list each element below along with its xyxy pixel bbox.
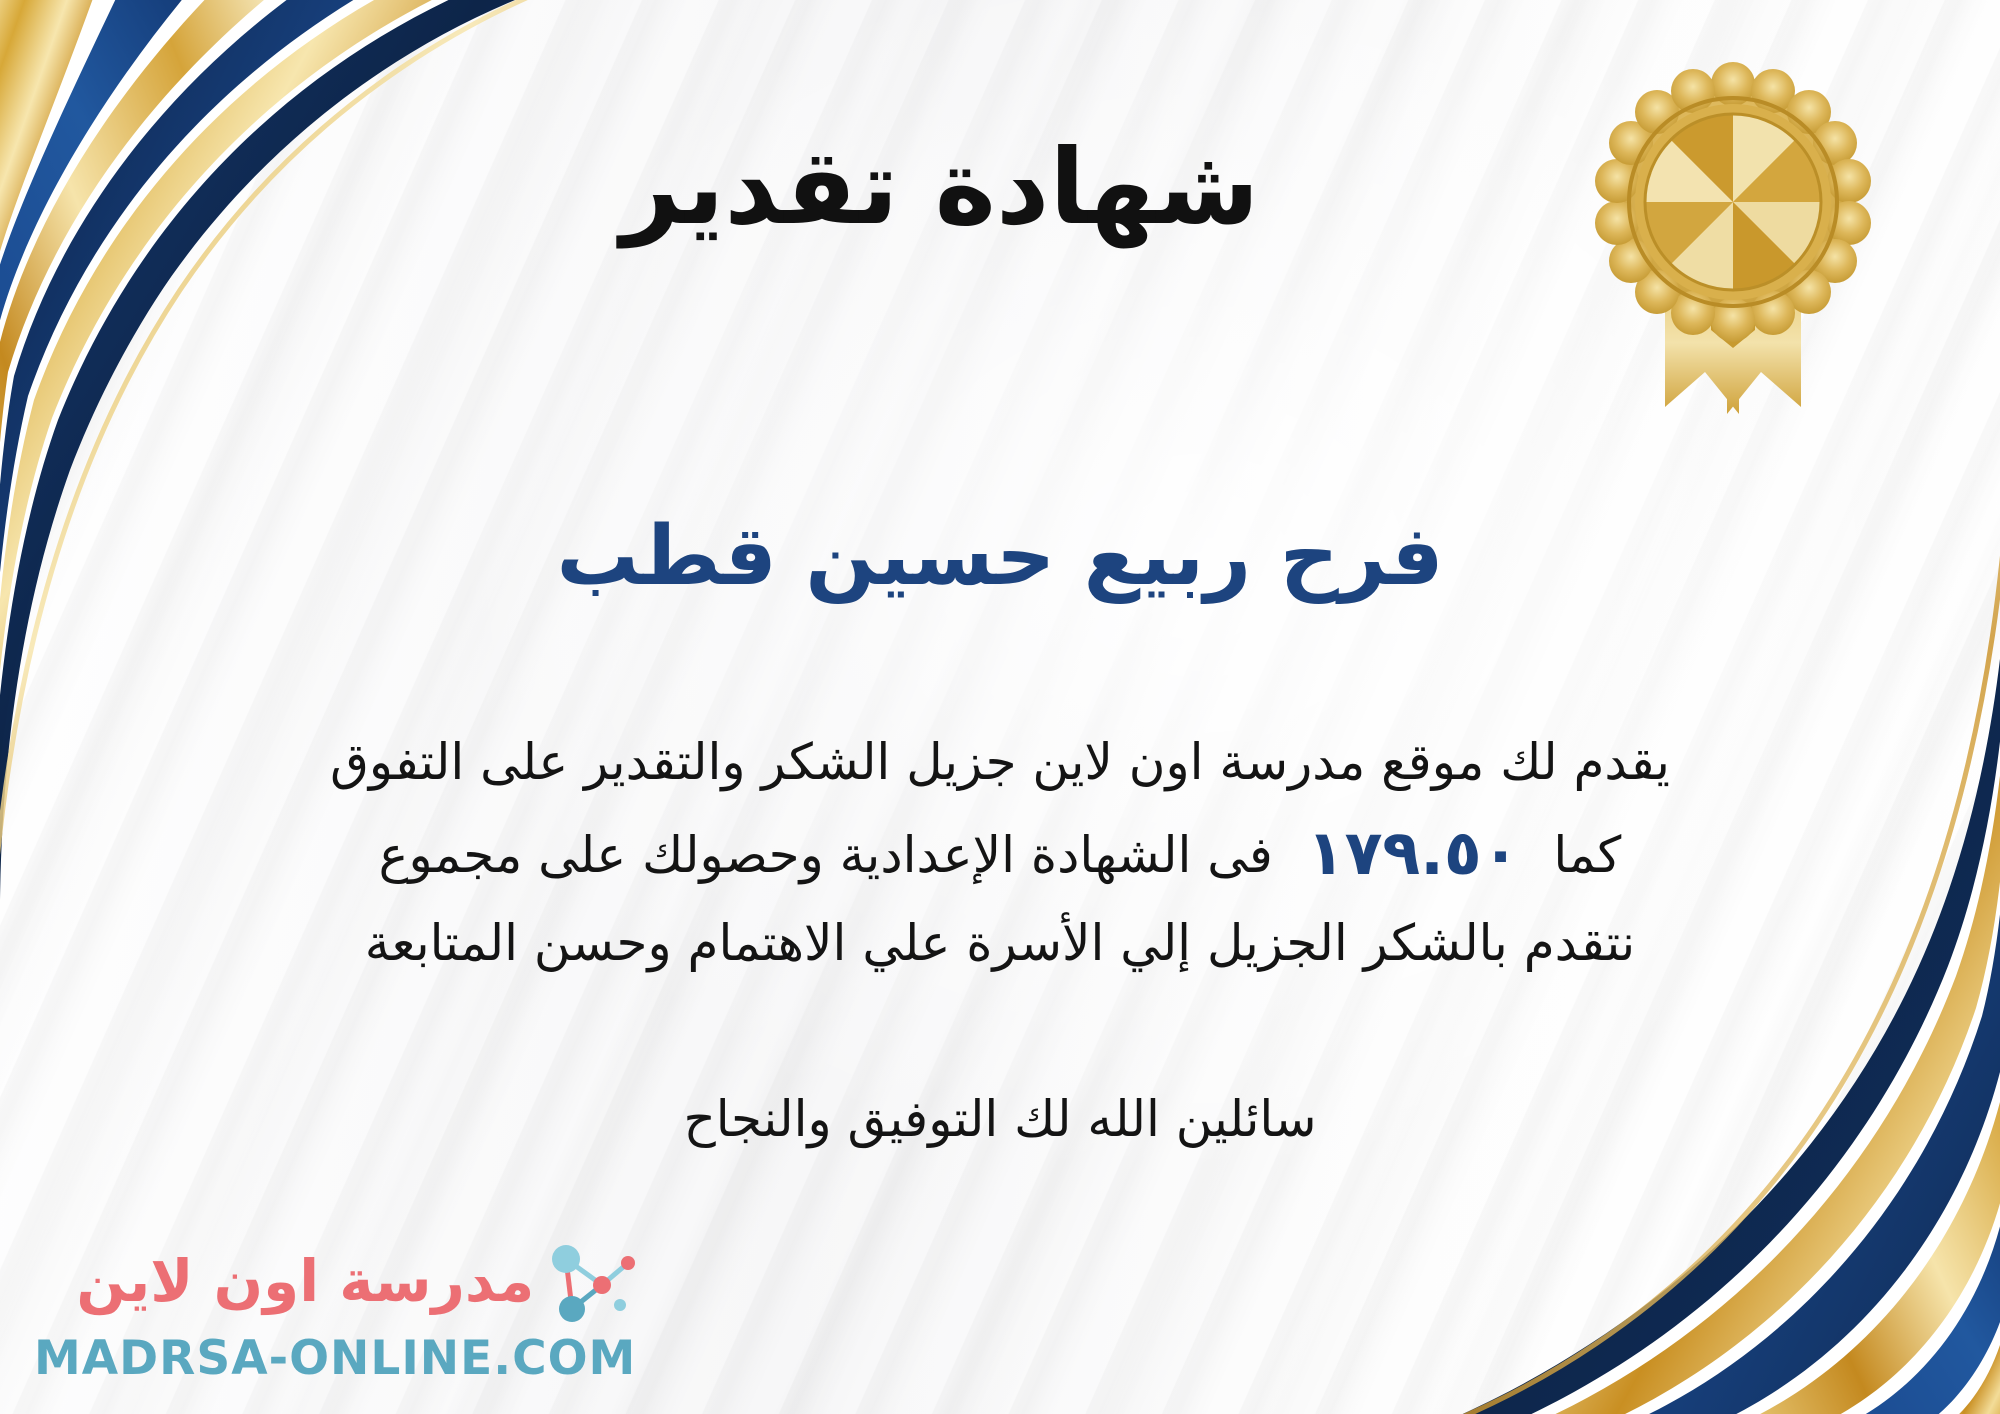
certificate-body: يقدم لك موقع مدرسة اون لاين جزيل الشكر و… (120, 722, 1880, 984)
page-title: شهادة تقدير (0, 130, 2000, 244)
body-line-1: يقدم لك موقع مدرسة اون لاين جزيل الشكر و… (120, 722, 1880, 803)
closing-wish: سائلين الله لك التوفيق والنجاح (0, 1090, 2000, 1148)
certificate-page: شهادة تقدير فرح ربيع حسين قطب يقدم لك مو… (0, 0, 2000, 1414)
body-line-3: نتقدم بالشكر الجزيل إلي الأسرة علي الاهت… (120, 903, 1880, 984)
body-line-2-prefix: كما (1553, 826, 1621, 884)
brand-arabic-name: مدرسة اون لاين (76, 1251, 534, 1312)
grade-total: ١٧٩.٥٠ (1289, 816, 1538, 889)
brand-logo[interactable]: مدرسة اون لاين MADRSA-ONLINE.COM (34, 1233, 636, 1386)
certificate-content: شهادة تقدير فرح ربيع حسين قطب يقدم لك مو… (0, 0, 2000, 1414)
body-line-2-suffix: فى الشهادة الإعدادية وحصولك على مجموع (379, 826, 1273, 884)
network-nodes-icon (544, 1233, 636, 1329)
brand-name-row: مدرسة اون لاين (76, 1233, 636, 1329)
brand-website[interactable]: MADRSA-ONLINE.COM (34, 1331, 636, 1386)
body-line-2: كما ١٧٩.٥٠ فى الشهادة الإعدادية وحصولك ع… (120, 803, 1880, 903)
recipient-name: فرح ربيع حسين قطب (0, 510, 2000, 604)
